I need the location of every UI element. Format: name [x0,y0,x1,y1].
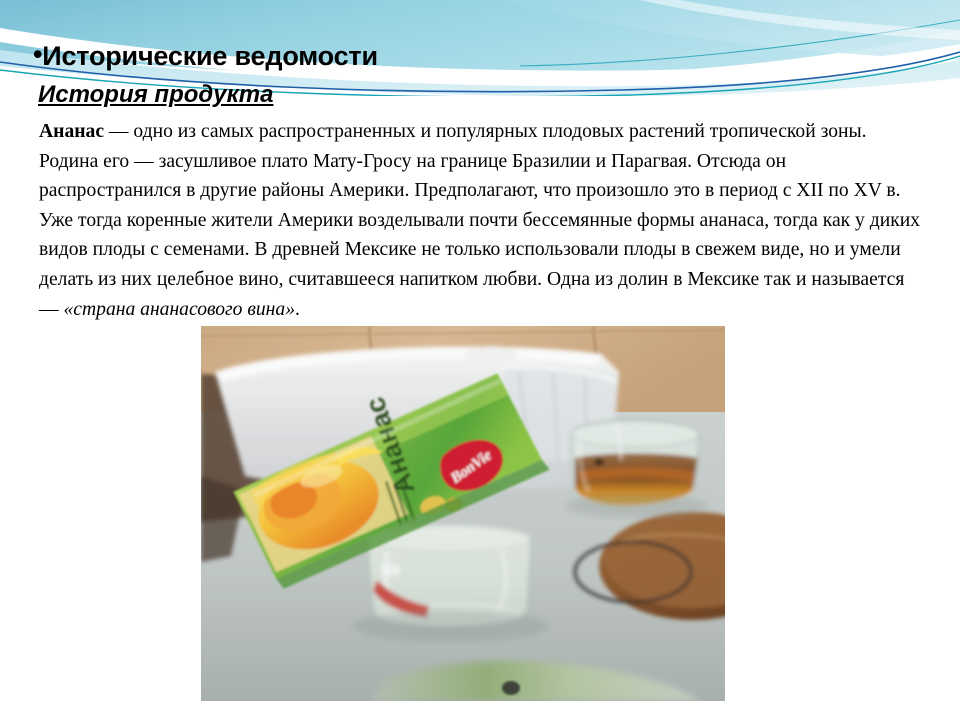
content-photograph: Ананас BonVie [201,326,725,701]
page-title: •Исторические ведомости [33,41,378,72]
body-lead-term: Ананас [39,121,104,142]
section-subtitle: История продукта [38,81,273,109]
title-bullet-icon: • [33,39,42,69]
body-main-text: — одно из самых распространенных и попул… [39,121,920,320]
body-paragraph: Ананас — одно из самых распространенных … [39,117,923,324]
body-tail-text: . [295,299,300,320]
title-text: Исторические ведомости [42,41,378,71]
body-italic-quote: «страна ананасового вина» [64,299,296,320]
photo-illustration: Ананас BonVie [201,326,725,701]
